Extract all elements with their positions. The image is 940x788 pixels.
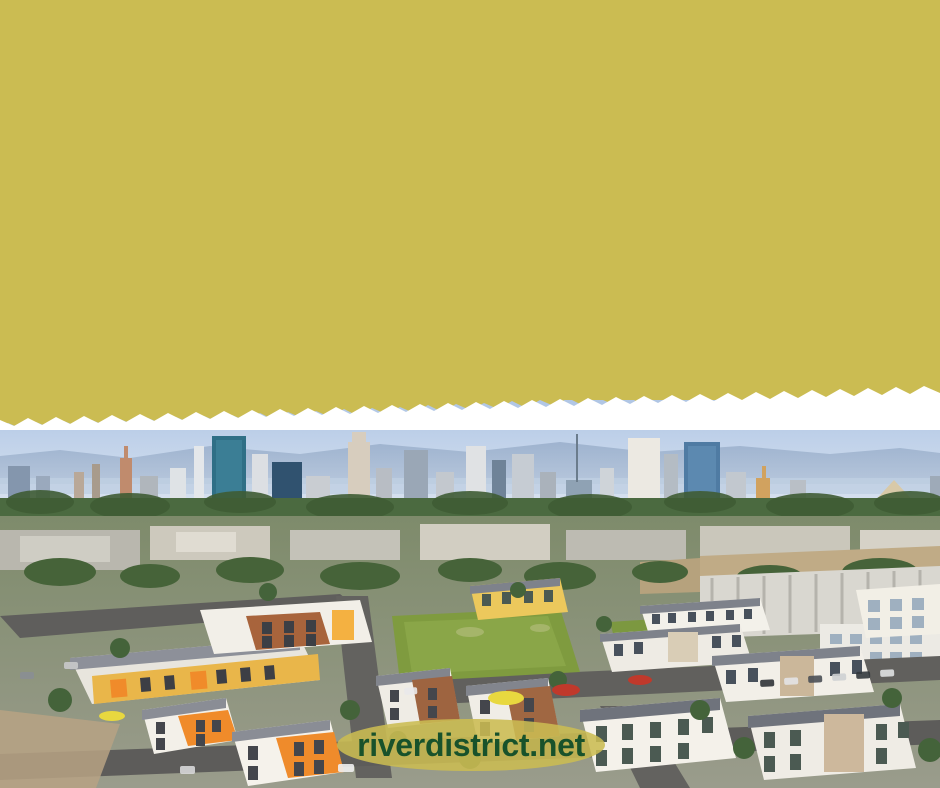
gold-header-panel xyxy=(0,0,940,400)
website-url[interactable]: riverdistrict.net xyxy=(357,727,585,764)
save-the-date-poster: SAVE THE DATE STATE OF THE RIVER DISTRIC… xyxy=(0,0,940,788)
website-pill[interactable]: riverdistrict.net xyxy=(337,719,605,771)
